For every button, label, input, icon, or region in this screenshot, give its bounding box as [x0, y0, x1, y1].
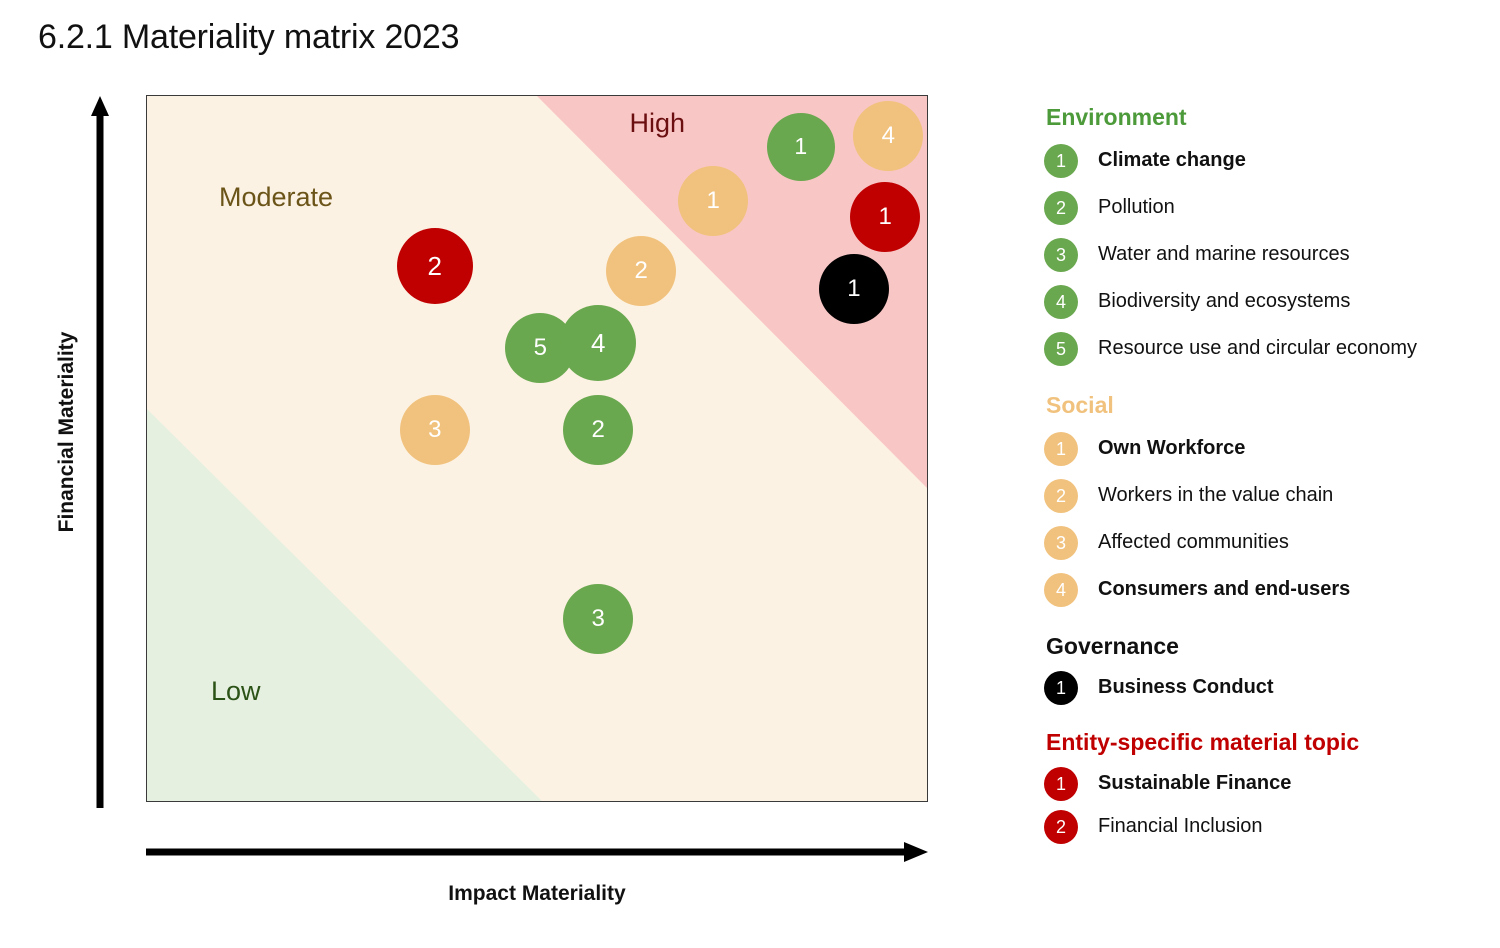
bubble-governance-1[interactable]: 1	[819, 254, 889, 324]
bubble-social-3[interactable]: 3	[400, 395, 470, 465]
y-axis-label: Financial Materiality	[55, 302, 79, 562]
legend-heading-environment: Environment	[1046, 104, 1484, 131]
legend-item[interactable]: 1Business Conduct	[1044, 666, 1484, 709]
legend-dot-2: 2	[1044, 191, 1078, 225]
legend-item[interactable]: 2Workers in the value chain	[1044, 472, 1484, 519]
materiality-matrix-page: 6.2.1 Materiality matrix 2023 Financial …	[0, 0, 1500, 948]
legend-dot-5: 5	[1044, 332, 1078, 366]
legend-item[interactable]: 2Pollution	[1044, 184, 1484, 231]
bubble-environment-4[interactable]: 4	[560, 305, 636, 381]
arrow-right-icon	[146, 840, 928, 864]
legend-item[interactable]: 5Resource use and circular economy	[1044, 325, 1484, 372]
legend-item-label: Financial Inclusion	[1098, 815, 1263, 838]
legend-heading-social: Social	[1046, 392, 1484, 419]
legend-item[interactable]: 4Biodiversity and ecosystems	[1044, 278, 1484, 325]
x-axis-label: Impact Materiality	[146, 882, 928, 906]
legend-item-label: Own Workforce	[1098, 437, 1245, 460]
bubble-environment-3[interactable]: 3	[563, 584, 633, 654]
legend-item[interactable]: 3Water and marine resources	[1044, 231, 1484, 278]
zone-label-high: High	[629, 108, 685, 139]
legend-heading-governance: Governance	[1046, 633, 1484, 660]
legend-dot-3: 3	[1044, 526, 1078, 560]
legend-dot-1: 1	[1044, 767, 1078, 801]
legend-group-social: Social1Own Workforce2Workers in the valu…	[1044, 392, 1484, 613]
bubble-social-1[interactable]: 1	[678, 166, 748, 236]
legend-dot-4: 4	[1044, 573, 1078, 607]
zone-label-low: Low	[211, 676, 261, 707]
legend-dot-2: 2	[1044, 810, 1078, 844]
legend-item-label: Pollution	[1098, 196, 1175, 219]
legend-item-label: Business Conduct	[1098, 676, 1274, 699]
legend-heading-entity-specific-material-topic: Entity-specific material topic	[1046, 729, 1484, 756]
zone-label-moderate: Moderate	[219, 182, 333, 213]
legend-group-governance: Governance1Business Conduct	[1044, 633, 1484, 709]
page-title: 6.2.1 Materiality matrix 2023	[38, 18, 459, 57]
legend: Environment1Climate change2Pollution3Wat…	[1044, 104, 1484, 850]
legend-dot-2: 2	[1044, 479, 1078, 513]
legend-item-label: Consumers and end-users	[1098, 578, 1350, 601]
legend-dot-1: 1	[1044, 671, 1078, 705]
legend-dot-1: 1	[1044, 144, 1078, 178]
plot-area: High Moderate Low 141112254323	[146, 95, 928, 802]
legend-item-label: Climate change	[1098, 149, 1246, 172]
arrow-up-icon	[90, 96, 110, 808]
bubble-environment-2[interactable]: 2	[563, 395, 633, 465]
legend-item[interactable]: 2Financial Inclusion	[1044, 805, 1484, 848]
legend-item[interactable]: 4Consumers and end-users	[1044, 566, 1484, 613]
bubble-entity-specific-material-topic-1[interactable]: 1	[850, 182, 920, 252]
legend-dot-3: 3	[1044, 238, 1078, 272]
legend-item[interactable]: 1Own Workforce	[1044, 425, 1484, 472]
legend-dot-4: 4	[1044, 285, 1078, 319]
legend-item[interactable]: 1Sustainable Finance	[1044, 762, 1484, 805]
legend-item[interactable]: 1Climate change	[1044, 137, 1484, 184]
legend-item-label: Affected communities	[1098, 531, 1289, 554]
legend-item-label: Water and marine resources	[1098, 243, 1350, 266]
legend-item[interactable]: 3Affected communities	[1044, 519, 1484, 566]
legend-item-label: Sustainable Finance	[1098, 772, 1291, 795]
legend-item-label: Biodiversity and ecosystems	[1098, 290, 1350, 313]
bubble-environment-1[interactable]: 1	[767, 113, 835, 181]
legend-item-label: Resource use and circular economy	[1098, 337, 1417, 360]
legend-item-label: Workers in the value chain	[1098, 484, 1333, 507]
legend-dot-1: 1	[1044, 432, 1078, 466]
bubble-entity-specific-material-topic-2[interactable]: 2	[397, 228, 473, 304]
legend-group-entity-specific-material-topic: Entity-specific material topic1Sustainab…	[1044, 729, 1484, 848]
legend-group-environment: Environment1Climate change2Pollution3Wat…	[1044, 104, 1484, 372]
